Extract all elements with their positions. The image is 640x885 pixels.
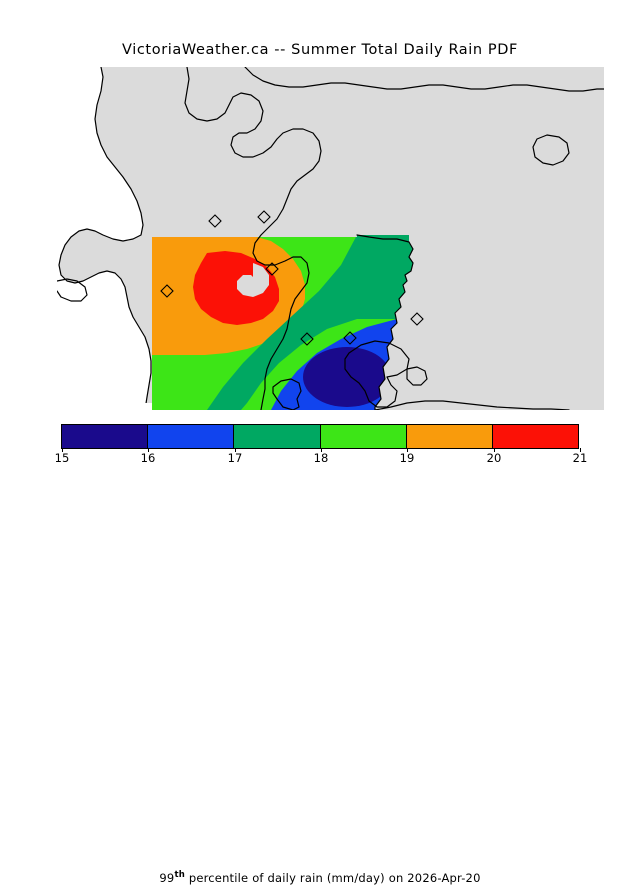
colorbar-band-15-16 — [62, 425, 147, 448]
colorbar-band-18-19 — [320, 425, 406, 448]
colorbar-band-19-20 — [406, 425, 492, 448]
caption-percentile-suffix: th — [174, 870, 185, 880]
colorbar-ticks: 15161718192021 — [0, 448, 640, 464]
colorbar-band-20-21 — [492, 425, 578, 448]
colorbar-ticklabel: 21 — [573, 451, 588, 465]
caption-percentile-number: 99 — [159, 871, 174, 885]
colorbar-band-16-17 — [147, 425, 233, 448]
colorbar-band-17-18 — [233, 425, 319, 448]
map-panel — [57, 67, 604, 410]
weather-map-page: VictoriaWeather.ca -- Summer Total Daily… — [0, 0, 640, 480]
caption-rest: percentile of daily rain (mm/day) on 202… — [185, 871, 481, 885]
colorbar: 15161718192021 99th percentile of daily … — [0, 418, 640, 480]
page-title: VictoriaWeather.ca -- Summer Total Daily… — [0, 42, 640, 58]
colorbar-ticklabel: 18 — [314, 451, 329, 465]
panel-trim — [57, 403, 152, 410]
colorbar-ticklabel: 19 — [400, 451, 415, 465]
colorbar-ticklabel: 16 — [141, 451, 156, 465]
map-canvas — [57, 67, 604, 410]
colorbar-ticklabel: 15 — [55, 451, 70, 465]
colorbar-strip — [61, 424, 579, 449]
colorbar-ticklabel: 20 — [487, 451, 502, 465]
colorbar-caption: 99th percentile of daily rain (mm/day) o… — [0, 870, 640, 885]
colorbar-ticklabel: 17 — [228, 451, 243, 465]
